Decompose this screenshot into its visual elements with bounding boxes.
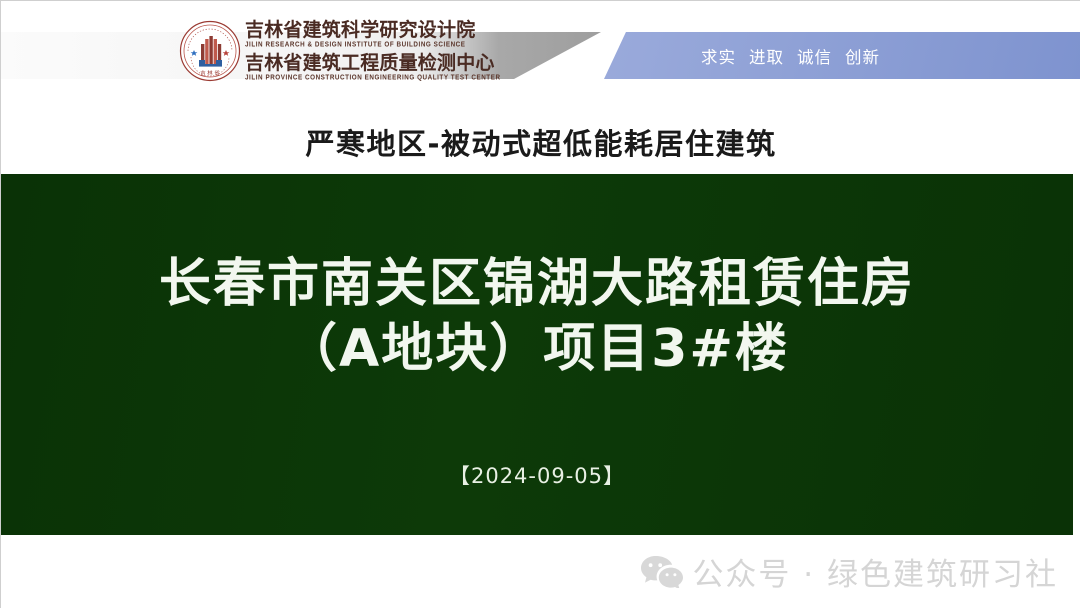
institute-name-line1: 吉林省建筑科学研究设计院	[245, 21, 501, 40]
svg-text:吉 林 省: 吉 林 省	[200, 69, 220, 77]
main-title-line1: 长春市南关区锦湖大路租赁住房	[1, 252, 1073, 317]
institute-logo-text: 吉林省建筑科学研究设计院 JILIN RESEARCH & DESIGN INS…	[245, 21, 501, 81]
title-panel: 长春市南关区锦湖大路租赁住房 （A地块）项目3#楼 【2024-09-05】	[1, 174, 1073, 535]
footer-watermark: 公众号 · 绿色建筑研习社	[640, 548, 1058, 594]
slogan-word-1: 求实	[701, 44, 736, 68]
wechat-icon	[640, 554, 684, 588]
footer-account-name: 公众号 · 绿色建筑研习社	[692, 549, 1058, 594]
slogan-word-3: 诚信	[797, 44, 832, 68]
institute-seal-icon: 吉 林 省	[179, 20, 241, 82]
main-title-line2: （A地块）项目3#楼	[1, 317, 1073, 382]
institute-name-en-line2: JILIN PROVINCE CONSTRUCTION ENGINEERING …	[245, 75, 501, 82]
slogan-word-4: 创新	[845, 44, 880, 68]
slogan-group: 求实 进取 诚信 创新	[604, 32, 1080, 79]
main-title: 长春市南关区锦湖大路租赁住房 （A地块）项目3#楼	[1, 252, 1073, 382]
slide-header: 求实 进取 诚信 创新	[1, 1, 1080, 101]
presentation-date: 【2024-09-05】	[1, 460, 1073, 490]
institute-logo: 吉 林 省 吉林省建筑科学研究设计院 JILIN RESEARCH & DESI…	[179, 18, 501, 84]
institute-name-en-line1: JILIN RESEARCH & DESIGN INSTITUTE OF BUI…	[245, 42, 501, 49]
slide-subtitle: 严寒地区-被动式超低能耗居住建筑	[1, 121, 1080, 163]
institute-name-line2: 吉林省建筑工程质量检测中心	[245, 54, 501, 73]
slogan-word-2: 进取	[749, 44, 784, 68]
presentation-slide: 求实 进取 诚信 创新	[0, 0, 1080, 608]
